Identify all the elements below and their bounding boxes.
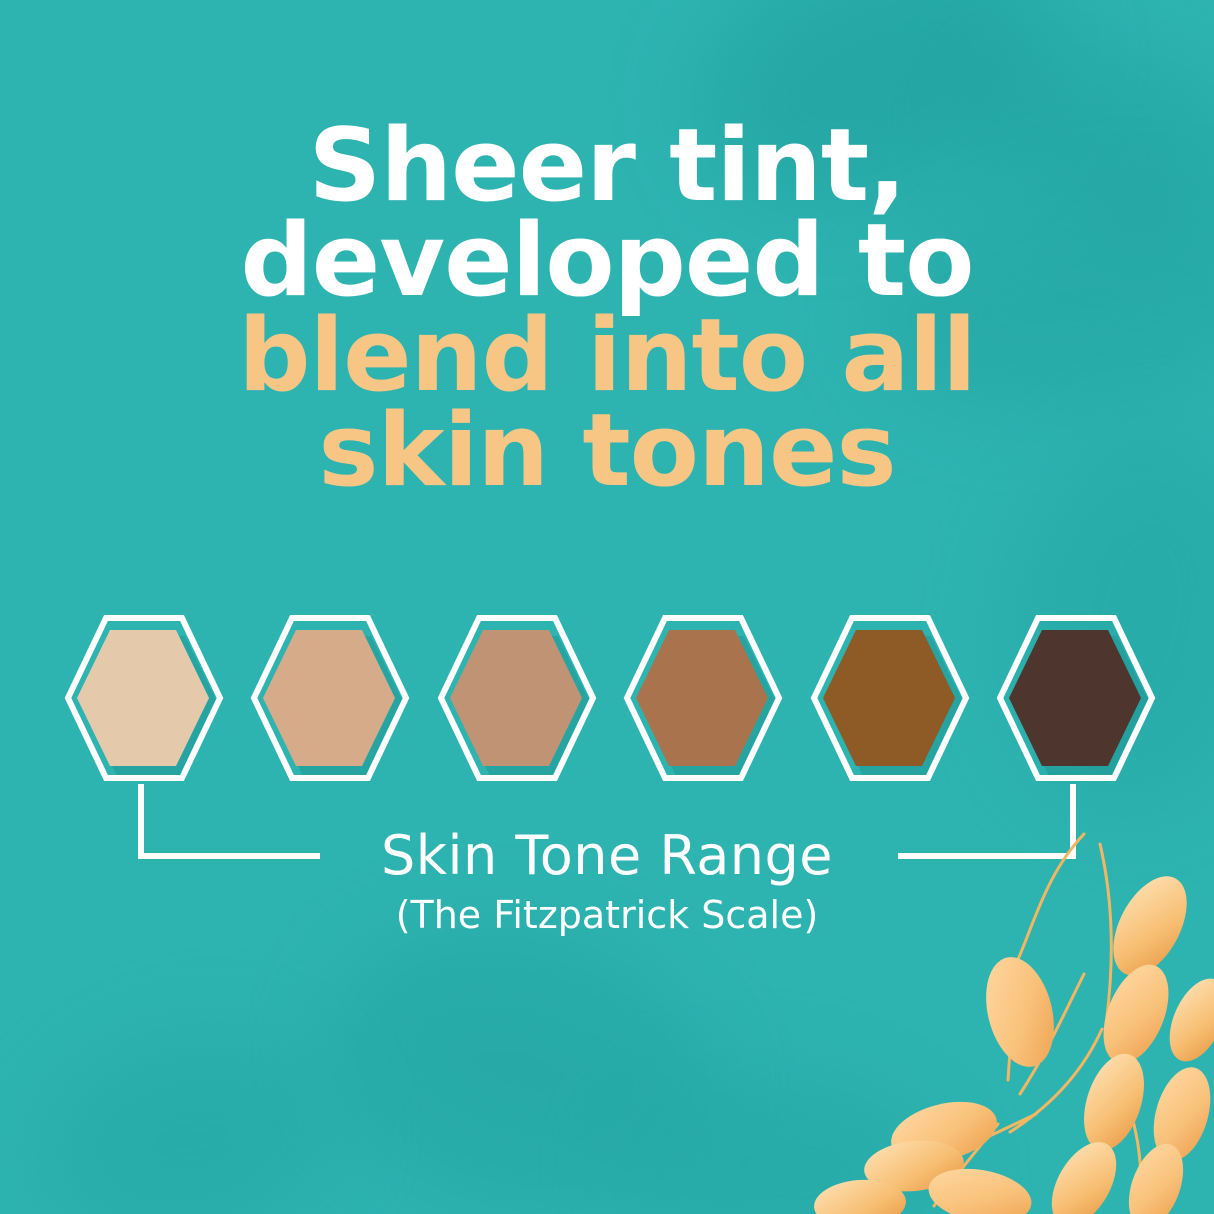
oat-grain <box>975 950 1064 1074</box>
range-caption-title: Skin Tone Range <box>0 828 1214 885</box>
leaf-shadow-blob <box>611 1063 958 1214</box>
headline-line-2: developed to <box>0 213 1214 308</box>
leaf-shadow-blob <box>304 898 736 1214</box>
oat-grain <box>1158 970 1214 1070</box>
headline: Sheer tint, developed to blend into all … <box>0 118 1214 498</box>
skin-tone-swatch[interactable] <box>808 612 966 784</box>
range-caption: Skin Tone Range (The Fitzpatrick Scale) <box>0 828 1214 937</box>
oat-grain <box>924 1161 1035 1214</box>
skin-tone-swatch[interactable] <box>621 612 779 784</box>
skin-tone-swatch[interactable] <box>248 612 406 784</box>
poster-canvas: Sheer tint, developed to blend into all … <box>0 0 1214 1214</box>
range-caption-subtitle: (The Fitzpatrick Scale) <box>0 893 1214 937</box>
leaf-shadow-blob <box>22 1011 357 1214</box>
oat-grain <box>1118 1136 1193 1214</box>
skin-tone-swatch[interactable] <box>62 612 220 784</box>
headline-line-3: blend into all <box>0 308 1214 403</box>
headline-line-4: skin tones <box>0 403 1214 498</box>
oat-grain <box>1091 955 1182 1072</box>
oat-grain <box>1144 1061 1214 1168</box>
skin-tone-swatch[interactable] <box>435 612 593 784</box>
skin-tone-swatch[interactable] <box>994 612 1152 784</box>
oat-grain <box>1038 1131 1129 1214</box>
oat-grain <box>1073 1046 1155 1158</box>
oat-grain <box>885 1092 1003 1172</box>
skin-tone-swatch-row <box>62 612 1152 784</box>
oat-grain <box>862 1136 967 1196</box>
headline-line-1: Sheer tint, <box>0 118 1214 213</box>
oat-grain <box>812 1177 907 1214</box>
